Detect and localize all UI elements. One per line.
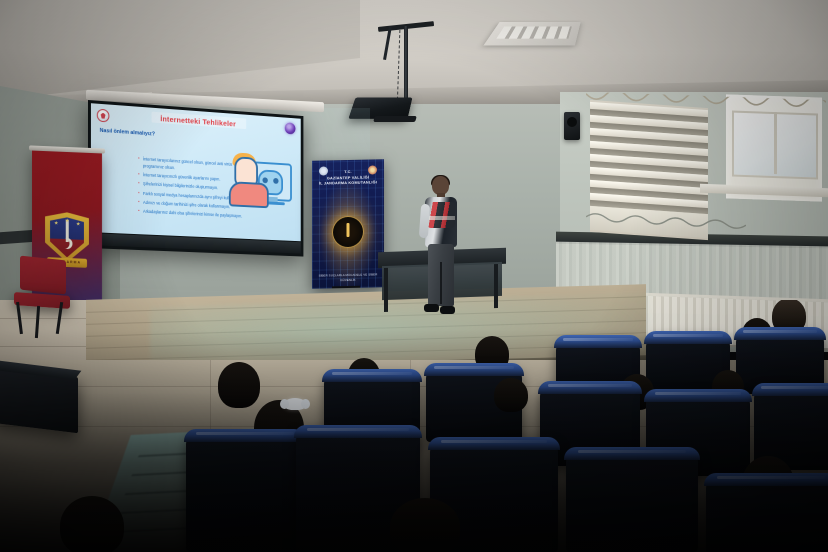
auditorium-seat[interactable] bbox=[566, 450, 698, 552]
projector-bracket bbox=[373, 116, 417, 122]
projection-screen: İnternetteki Tehlikeler Nasıl önlem alma… bbox=[88, 100, 303, 257]
banner-footer-text: SİBER SUÇLARLA MÜCADELE VE SİBER GÜVENLİ… bbox=[312, 273, 384, 283]
person-at-computer-with-skull-icon bbox=[227, 150, 294, 229]
turkish-national-emblem-icon bbox=[97, 109, 110, 123]
white-hair-bow-icon bbox=[284, 398, 306, 410]
fluorescent-tube bbox=[496, 26, 572, 38]
audience-head bbox=[390, 498, 460, 552]
purple-circular-logo-icon bbox=[285, 122, 296, 134]
presentation-slide: İnternetteki Tehlikeler Nasıl önlem alma… bbox=[91, 103, 301, 241]
audience-seating bbox=[0, 300, 828, 552]
banner-heading: T.C. GAZİANTEP VALİLİĞİ İL JANDARMA KOMU… bbox=[312, 169, 384, 187]
audience-head bbox=[60, 496, 124, 552]
auditorium-seat[interactable] bbox=[706, 476, 828, 552]
recessed-fluorescent-light-icon bbox=[483, 22, 580, 45]
slide-bullet-list: İnternet tarayıcılarınız güncel olsun, g… bbox=[100, 154, 248, 224]
audience-head bbox=[218, 362, 260, 408]
gaziantep-jandarma-banner: T.C. GAZİANTEP VALİLİĞİ İL JANDARMA KOMU… bbox=[312, 159, 384, 289]
projector-pole bbox=[404, 26, 408, 108]
wall-mounted-speaker-icon bbox=[564, 112, 580, 140]
photo-scene: İnternetteki Tehlikeler Nasıl önlem alma… bbox=[0, 0, 828, 552]
slide-subtitle: Nasıl önlem almalıyız? bbox=[100, 128, 155, 138]
reflective-stripe bbox=[427, 216, 455, 220]
reflective-vest bbox=[427, 202, 455, 228]
audience-head bbox=[494, 378, 528, 412]
window-mullion bbox=[774, 112, 777, 174]
auditorium-seat[interactable] bbox=[186, 432, 304, 552]
